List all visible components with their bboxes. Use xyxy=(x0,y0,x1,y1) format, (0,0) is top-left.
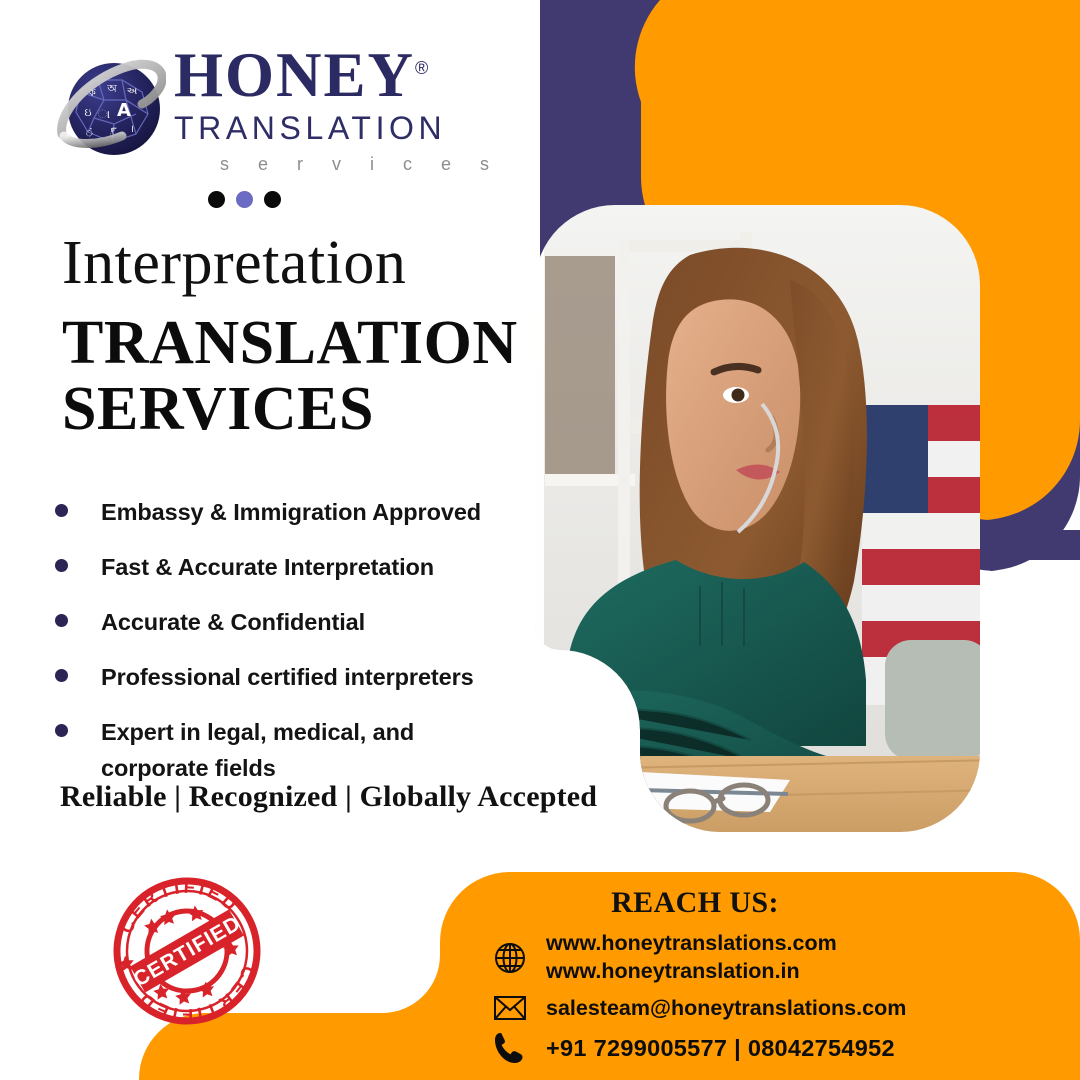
contact-row-email[interactable]: salesteam@honeytranslations.com xyxy=(490,994,906,1022)
list-item-label: Expert in legal, medical, and corporate … xyxy=(101,715,461,787)
svg-text:।: । xyxy=(130,124,134,135)
bullet-dot-icon xyxy=(55,669,68,682)
contact-phone[interactable]: +91 7299005577 | 08042754952 xyxy=(546,1035,895,1062)
website-line-1[interactable]: www.honeytranslations.com xyxy=(546,931,837,955)
headline-bold-line-2: SERVICES xyxy=(62,376,582,442)
logo-honey-text: HONEY® xyxy=(174,44,474,107)
bullet-dot-icon xyxy=(55,614,68,627)
website-line-2[interactable]: www.honeytranslation.in xyxy=(546,959,800,983)
brand-logo[interactable]: ক অ અ ઇ ા A ் ్ । HONEY® TRANSLATION s e… xyxy=(56,46,476,176)
logo-translation-text: TRANSLATION xyxy=(174,109,474,148)
contact-website-lines[interactable]: www.honeytranslations.com www.honeytrans… xyxy=(546,930,837,985)
page-title: Interpretation TRANSLATION SERVICES xyxy=(62,232,582,443)
list-item-label: Professional certified interpreters xyxy=(101,660,474,696)
contact-email[interactable]: salesteam@honeytranslations.com xyxy=(546,996,906,1021)
dot-3 xyxy=(264,191,281,208)
svg-text:ઇ: ઇ xyxy=(84,106,91,119)
svg-text:்: ் xyxy=(85,126,95,139)
svg-text:અ: અ xyxy=(127,86,138,97)
bullet-dot-icon xyxy=(55,504,68,517)
list-item-label: Fast & Accurate Interpretation xyxy=(101,550,434,586)
poster-canvas: ক অ અ ઇ ા A ் ్ । HONEY® TRANSLATION s e… xyxy=(0,0,1080,1080)
contact-row-phone[interactable]: +91 7299005577 | 08042754952 xyxy=(490,1031,906,1065)
list-item: Fast & Accurate Interpretation xyxy=(55,550,535,586)
list-item: Embassy & Immigration Approved xyxy=(55,495,535,531)
contact-title: REACH US: xyxy=(440,886,1080,920)
logo-services-text: s e r v i c e s xyxy=(220,153,474,176)
contact-block: REACH US: www.honeytranslations.com www.… xyxy=(440,872,1080,1080)
svg-text:ા: ા xyxy=(98,107,110,121)
dot-2 xyxy=(236,191,253,208)
contact-row-website[interactable]: www.honeytranslations.com www.honeytrans… xyxy=(490,930,906,985)
svg-text:অ: অ xyxy=(106,82,117,95)
list-item: Expert in legal, medical, and corporate … xyxy=(55,715,535,787)
headline-bold-line-1: TRANSLATION xyxy=(62,310,582,376)
feature-list: Embassy & Immigration Approved Fast & Ac… xyxy=(55,495,535,806)
dot-1 xyxy=(208,191,225,208)
envelope-icon xyxy=(490,994,530,1022)
list-item: Professional certified interpreters xyxy=(55,660,535,696)
certified-stamp-icon: CERTIFIED CERTIFIED CERTIFIED xyxy=(108,872,266,1030)
svg-text:A: A xyxy=(117,100,131,121)
headline-script-line: Interpretation xyxy=(62,232,582,294)
tagline: Reliable | Recognized | Globally Accepte… xyxy=(60,780,597,814)
bullet-dot-icon xyxy=(55,724,68,737)
bullet-dot-icon xyxy=(55,559,68,572)
globe-icon xyxy=(490,941,530,975)
list-item: Accurate & Confidential xyxy=(55,605,535,641)
registered-mark-icon: ® xyxy=(415,58,428,78)
phone-icon xyxy=(490,1031,530,1065)
decorative-dots xyxy=(208,191,281,208)
list-item-label: Embassy & Immigration Approved xyxy=(101,495,481,531)
globe-languages-icon: ক অ અ ઇ ા A ் ్ । xyxy=(56,52,166,162)
list-item-label: Accurate & Confidential xyxy=(101,605,365,641)
